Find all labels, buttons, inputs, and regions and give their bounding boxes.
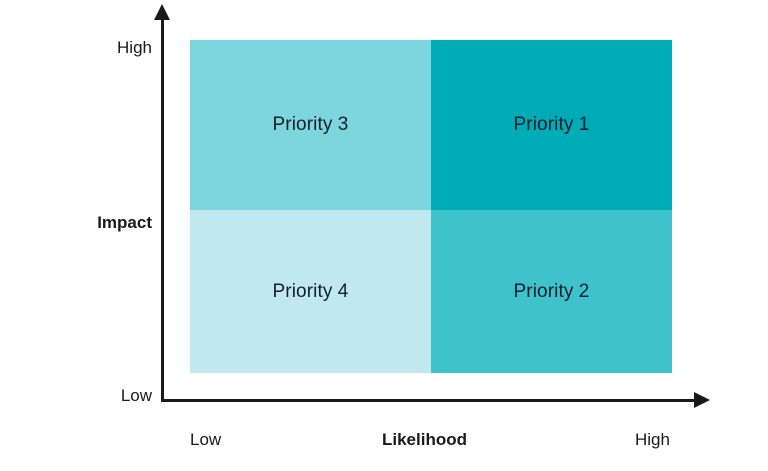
y-axis-line — [161, 18, 164, 402]
quadrant-priority-4[interactable]: Priority 4 — [190, 210, 431, 373]
quadrant-label-priority-1: Priority 1 — [514, 114, 590, 136]
x-axis-tick-low: Low — [190, 430, 221, 450]
x-axis-tick-high: High — [635, 430, 670, 450]
quadrant-label-priority-4: Priority 4 — [273, 281, 349, 303]
y-axis-title: Impact — [97, 213, 152, 233]
y-axis-tick-high: High — [117, 38, 152, 58]
risk-priority-matrix: Priority 3 Priority 1 Priority 4 Priorit… — [0, 0, 768, 471]
quadrant-priority-3[interactable]: Priority 3 — [190, 40, 431, 210]
x-axis-title: Likelihood — [382, 430, 467, 450]
x-axis-line — [161, 399, 696, 402]
quadrant-label-priority-3: Priority 3 — [273, 114, 349, 136]
quadrant-grid: Priority 3 Priority 1 Priority 4 Priorit… — [190, 40, 672, 373]
quadrant-label-priority-2: Priority 2 — [514, 281, 590, 303]
quadrant-priority-2[interactable]: Priority 2 — [431, 210, 672, 373]
quadrant-priority-1[interactable]: Priority 1 — [431, 40, 672, 210]
x-axis-arrow-icon — [694, 392, 710, 408]
y-axis-tick-low: Low — [121, 386, 152, 406]
y-axis-arrow-icon — [154, 4, 170, 20]
